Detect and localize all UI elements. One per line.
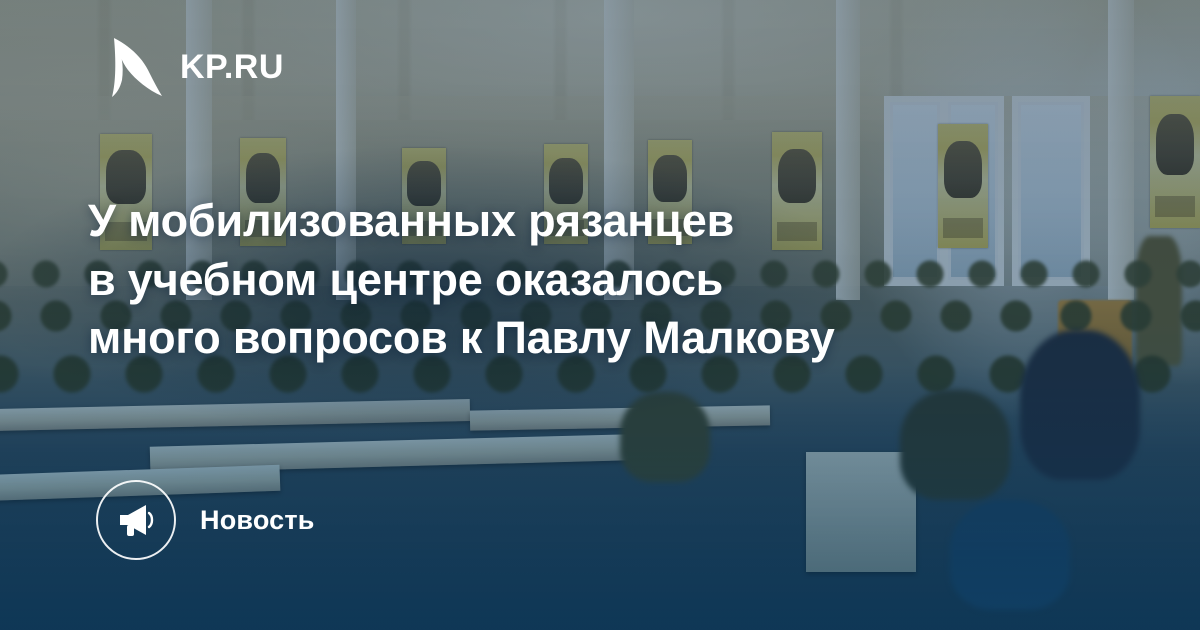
brand-logo[interactable]: KP.RU — [108, 36, 284, 98]
brand-name: KP.RU — [180, 50, 284, 84]
headline-line-1: У мобилизованных рязанцев — [88, 192, 1098, 251]
news-share-card: KP.RU У мобилизованных рязанцев в учебно… — [0, 0, 1200, 630]
badge-label: Новость — [200, 505, 315, 536]
megaphone-icon — [114, 500, 158, 540]
headline: У мобилизованных рязанцев в учебном цент… — [88, 192, 1098, 368]
badge-circle — [96, 480, 176, 560]
headline-line-2: в учебном центре оказалось — [88, 251, 1098, 310]
category-badge[interactable]: Новость — [96, 480, 315, 560]
swallow-bird-icon — [108, 36, 164, 98]
headline-line-3: много вопросов к Павлу Малкову — [88, 309, 1098, 368]
